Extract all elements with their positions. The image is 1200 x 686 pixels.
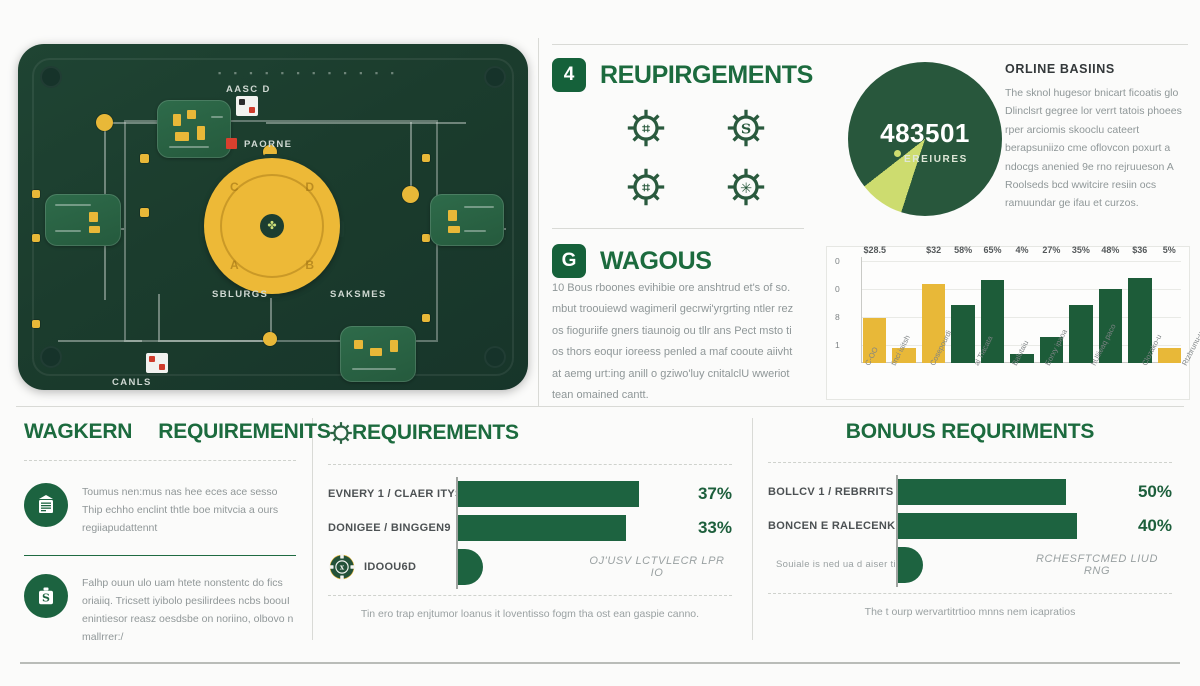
requirements-title: REUPIRGEMENTS <box>600 61 813 90</box>
hbar-label: BOLLCV 1 / REBRRITS <box>768 486 896 498</box>
hbar-label: EVNERY 1 / CLAER ITYS <box>328 488 456 500</box>
requirements-header: 4 REUPIRGEMENTS <box>552 58 813 92</box>
hub-tick-d: B <box>305 258 314 272</box>
hbar-percent: 37% <box>666 484 732 504</box>
hbar-fill <box>898 513 1077 539</box>
casino-requirements-panel: CASINO REQUIREMENTS EVNERY 1 / CLAER ITY… <box>328 420 732 620</box>
svg-text:S: S <box>42 592 50 605</box>
casino-chip-icon-2[interactable]: S <box>723 105 769 151</box>
bar-value-label: 5% <box>1163 245 1176 255</box>
board-corner-hole-tl <box>40 66 62 88</box>
board-node <box>140 208 149 217</box>
hbar-row-chip: ♣ Souiale is ned ua d aiser tias RCHESFT… <box>768 543 1172 587</box>
panel-mid-dashline-bottom <box>328 595 732 596</box>
infographic-page: ▪ ▪ ▪ ▪ ▪ ▪ ▪ ▪ ▪ ▪ ▪ ▪ <box>0 0 1200 686</box>
requirements-icon-grid: ⌗ S ⌗ ✳ <box>596 98 796 216</box>
bar-value-label: 4% <box>1015 245 1028 255</box>
bar-value-label: 35% <box>1072 245 1090 255</box>
panel-mid-footer: Tin ero trap enjtumor loanus it loventis… <box>328 608 732 620</box>
hbar-label: BONCEN E RALECENK <box>768 520 896 532</box>
board-node <box>32 190 40 198</box>
board-node <box>422 314 430 322</box>
playing-card-icon-bottom <box>146 353 168 373</box>
wagers-header: G WAGOUS <box>552 244 712 278</box>
hbar-row: EVNERY 1 / CLAER ITYS 37% <box>328 477 732 511</box>
casino-chip-icon <box>328 420 354 446</box>
svg-text:⌗: ⌗ <box>641 121 650 136</box>
bar-chart-ytick: 8 <box>835 312 840 322</box>
board-node <box>422 234 430 242</box>
hub-tick-b: D <box>305 180 314 194</box>
board-chip-module-bottom <box>340 326 416 382</box>
board-label-top-trace: AASC D <box>226 84 271 95</box>
online-basins-text-block: ORLINE BASIINS The sknol hugesor bnicart… <box>1005 62 1187 213</box>
panel-right-dashline-top <box>768 462 1172 463</box>
hbar-row: BONCEN E RALECENK 40% <box>768 509 1172 543</box>
chip-row-note: OJ'USV LCTVLECR LPR IO <box>582 555 732 579</box>
hbar-label: DONIGEE / BINGGEN9 <box>328 522 456 534</box>
list-item-text: Falhp ouun ulo uam htete nonstentc do fi… <box>82 574 296 646</box>
hbar-row-chip: x IDOOU6D OJ'USV LCTVLECR LPR IO <box>328 545 732 589</box>
bar-chart-xtick-label: Rtzbrunu-u <box>1180 330 1200 379</box>
hub-tick-a: C <box>230 180 239 194</box>
wager-requirements-panel: WAGKERN REQUIREMENITS Toumus nen:mus nas… <box>24 420 296 646</box>
money-bag-icon: S <box>24 574 68 618</box>
online-basins-heading: ORLINE BASIINS <box>1005 62 1187 76</box>
board-corner-hole-br <box>484 346 506 368</box>
playing-card-icon-top <box>236 96 258 116</box>
svg-text:x: x <box>340 563 345 572</box>
wagers-paragraph: 10 Bous rboones evihibie ore anshtrud et… <box>552 278 804 407</box>
board-node <box>422 154 430 162</box>
bar-value-label: 65% <box>984 245 1002 255</box>
hbar-track <box>456 477 666 511</box>
bonus-requirements-title: BONUUS REQURIMENTS <box>768 420 1172 444</box>
bonus-requirements-panel: BONUUS REQURIMENTS BOLLCV 1 / REBRRITS 5… <box>768 420 1172 618</box>
hbar-track <box>896 475 1106 509</box>
board-chip-module-right <box>430 194 504 246</box>
hbar-percent: 50% <box>1106 482 1172 502</box>
chip-row-label: Souiale is ned ua d aiser tias <box>776 558 906 572</box>
panel-left-solidline <box>24 555 296 556</box>
casino-circuit-board-diagram: ▪ ▪ ▪ ▪ ▪ ▪ ▪ ▪ ▪ ▪ ▪ ▪ <box>18 44 528 390</box>
chip-row-label: IDOOU6D <box>364 561 416 573</box>
board-surface: ▪ ▪ ▪ ▪ ▪ ▪ ▪ ▪ ▪ ▪ ▪ ▪ <box>18 44 528 390</box>
list-item[interactable]: S Falhp ouun ulo uam htete nonstentc do … <box>24 574 296 646</box>
board-node <box>32 234 40 242</box>
panel-left-dashline <box>24 460 296 461</box>
svg-text:⌗: ⌗ <box>641 180 650 195</box>
board-edge-marks: ▪ ▪ ▪ ▪ ▪ ▪ ▪ ▪ ▪ ▪ ▪ ▪ <box>218 68 399 78</box>
board-chip-module-left <box>45 194 121 246</box>
hub-tick-c: A <box>230 258 239 272</box>
bottom-rule <box>20 662 1180 664</box>
requirements-badge: 4 <box>552 58 586 92</box>
board-trace <box>266 122 466 124</box>
panel-right-footer: The t ourp wervartitrtioo mnns nem icapr… <box>768 606 1172 618</box>
board-label-bottom-left: CANLS <box>112 377 152 388</box>
board-trace <box>158 340 270 342</box>
bar-value-label: 48% <box>1101 245 1119 255</box>
board-corner-hole-tr <box>484 66 506 88</box>
pie-callout-dot <box>894 150 901 157</box>
hbar-fill <box>898 479 1066 505</box>
casino-requirements-title: REQUIREMENTS <box>352 421 519 445</box>
hbar-row: BOLLCV 1 / REBRRITS 50% <box>768 475 1172 509</box>
divider-top <box>552 44 1188 45</box>
board-trace <box>58 340 142 342</box>
divider-panel-1 <box>312 418 313 640</box>
bar-chart-ytick: 0 <box>835 284 840 294</box>
board-node <box>140 154 149 163</box>
red-indicator-dot <box>226 138 237 149</box>
hbar-track <box>896 543 1022 587</box>
wagers-badge: G <box>552 244 586 278</box>
divider-vertical-main <box>538 38 539 406</box>
board-node <box>32 320 40 328</box>
bar-value-label: 58% <box>954 245 972 255</box>
divider-wagers <box>552 228 804 229</box>
hbar-row: DONIGEE / BINGGEN9 33% <box>328 511 732 545</box>
hbar-track <box>456 511 666 545</box>
hub-core-glyph: ✤ <box>260 214 284 238</box>
board-trace <box>158 294 160 340</box>
hbar-fill <box>458 515 626 541</box>
divider-panel-2 <box>752 418 753 640</box>
wagers-bar-chart: 0 0 8 1 $28.5$3258%65%4%27%35%48%$365% C… <box>826 246 1190 400</box>
casino-chip-icon-1[interactable]: ⌗ <box>623 105 669 151</box>
board-node <box>96 114 113 131</box>
svg-text:S: S <box>741 121 751 137</box>
pie-center-value: 483501 <box>848 118 1002 149</box>
bar-chart-ytick: 0 <box>835 256 840 266</box>
list-item[interactable]: Toumus nen:mus nas hee eces ace sesso Th… <box>24 483 296 537</box>
bar-value-label: $36 <box>1132 245 1147 255</box>
casino-chip-icon: x <box>328 553 356 581</box>
hbar-percent: 33% <box>666 518 732 538</box>
board-chip-module-top <box>157 100 231 158</box>
casino-chip-icon-4[interactable]: ✳ <box>723 164 769 210</box>
board-node <box>263 332 277 346</box>
casino-chip-icon-3[interactable]: ⌗ <box>623 164 669 210</box>
bar-value-label: 27% <box>1042 245 1060 255</box>
hbar-fill-rounded <box>898 547 923 583</box>
board-trace <box>410 122 412 194</box>
chip-row-note: RCHESFTCMED LIUD RNG <box>1022 553 1172 577</box>
hbar-percent: 40% <box>1106 516 1172 536</box>
wagers-title: WAGOUS <box>600 247 712 276</box>
board-label-red-tag: PAORNE <box>244 139 292 150</box>
board-node <box>402 186 419 203</box>
board-corner-hole-bl <box>40 346 62 368</box>
wager-requirements-title-b: REQUIREMENITS <box>158 420 330 444</box>
online-basins-pie-chart: 483501 EREIURES <box>848 62 1002 216</box>
bar-value-label: $32 <box>926 245 941 255</box>
panel-right-dashline-bottom <box>768 593 1172 594</box>
board-label-left-center: SBLURGS <box>212 289 268 300</box>
board-label-right-center: SAKSMES <box>330 289 387 300</box>
bar-chart-xticks: C-OOtinci iaitshCosepourdial TiacataBalu… <box>863 363 1181 397</box>
center-hub-gear[interactable]: C D A B ✤ <box>204 158 340 294</box>
bar-chart-ytick: 1 <box>835 340 840 350</box>
hbar-track <box>896 509 1106 543</box>
wager-requirements-title-a: WAGKERN <box>24 420 132 444</box>
svg-text:✳: ✳ <box>740 180 752 196</box>
pie-slice-label: EREIURES <box>904 154 968 165</box>
hbar-track <box>456 545 582 589</box>
hbar-fill-rounded <box>458 549 483 585</box>
document-icon <box>24 483 68 527</box>
panel-mid-dashline-top <box>328 464 732 465</box>
online-basins-paragraph: The sknol hugesor bnicart ficoatis glo D… <box>1005 84 1187 213</box>
list-item-text: Toumus nen:mus nas hee eces ace sesso Th… <box>82 483 296 537</box>
hbar-fill <box>458 481 639 507</box>
bar-value-label: $28.5 <box>863 245 886 255</box>
